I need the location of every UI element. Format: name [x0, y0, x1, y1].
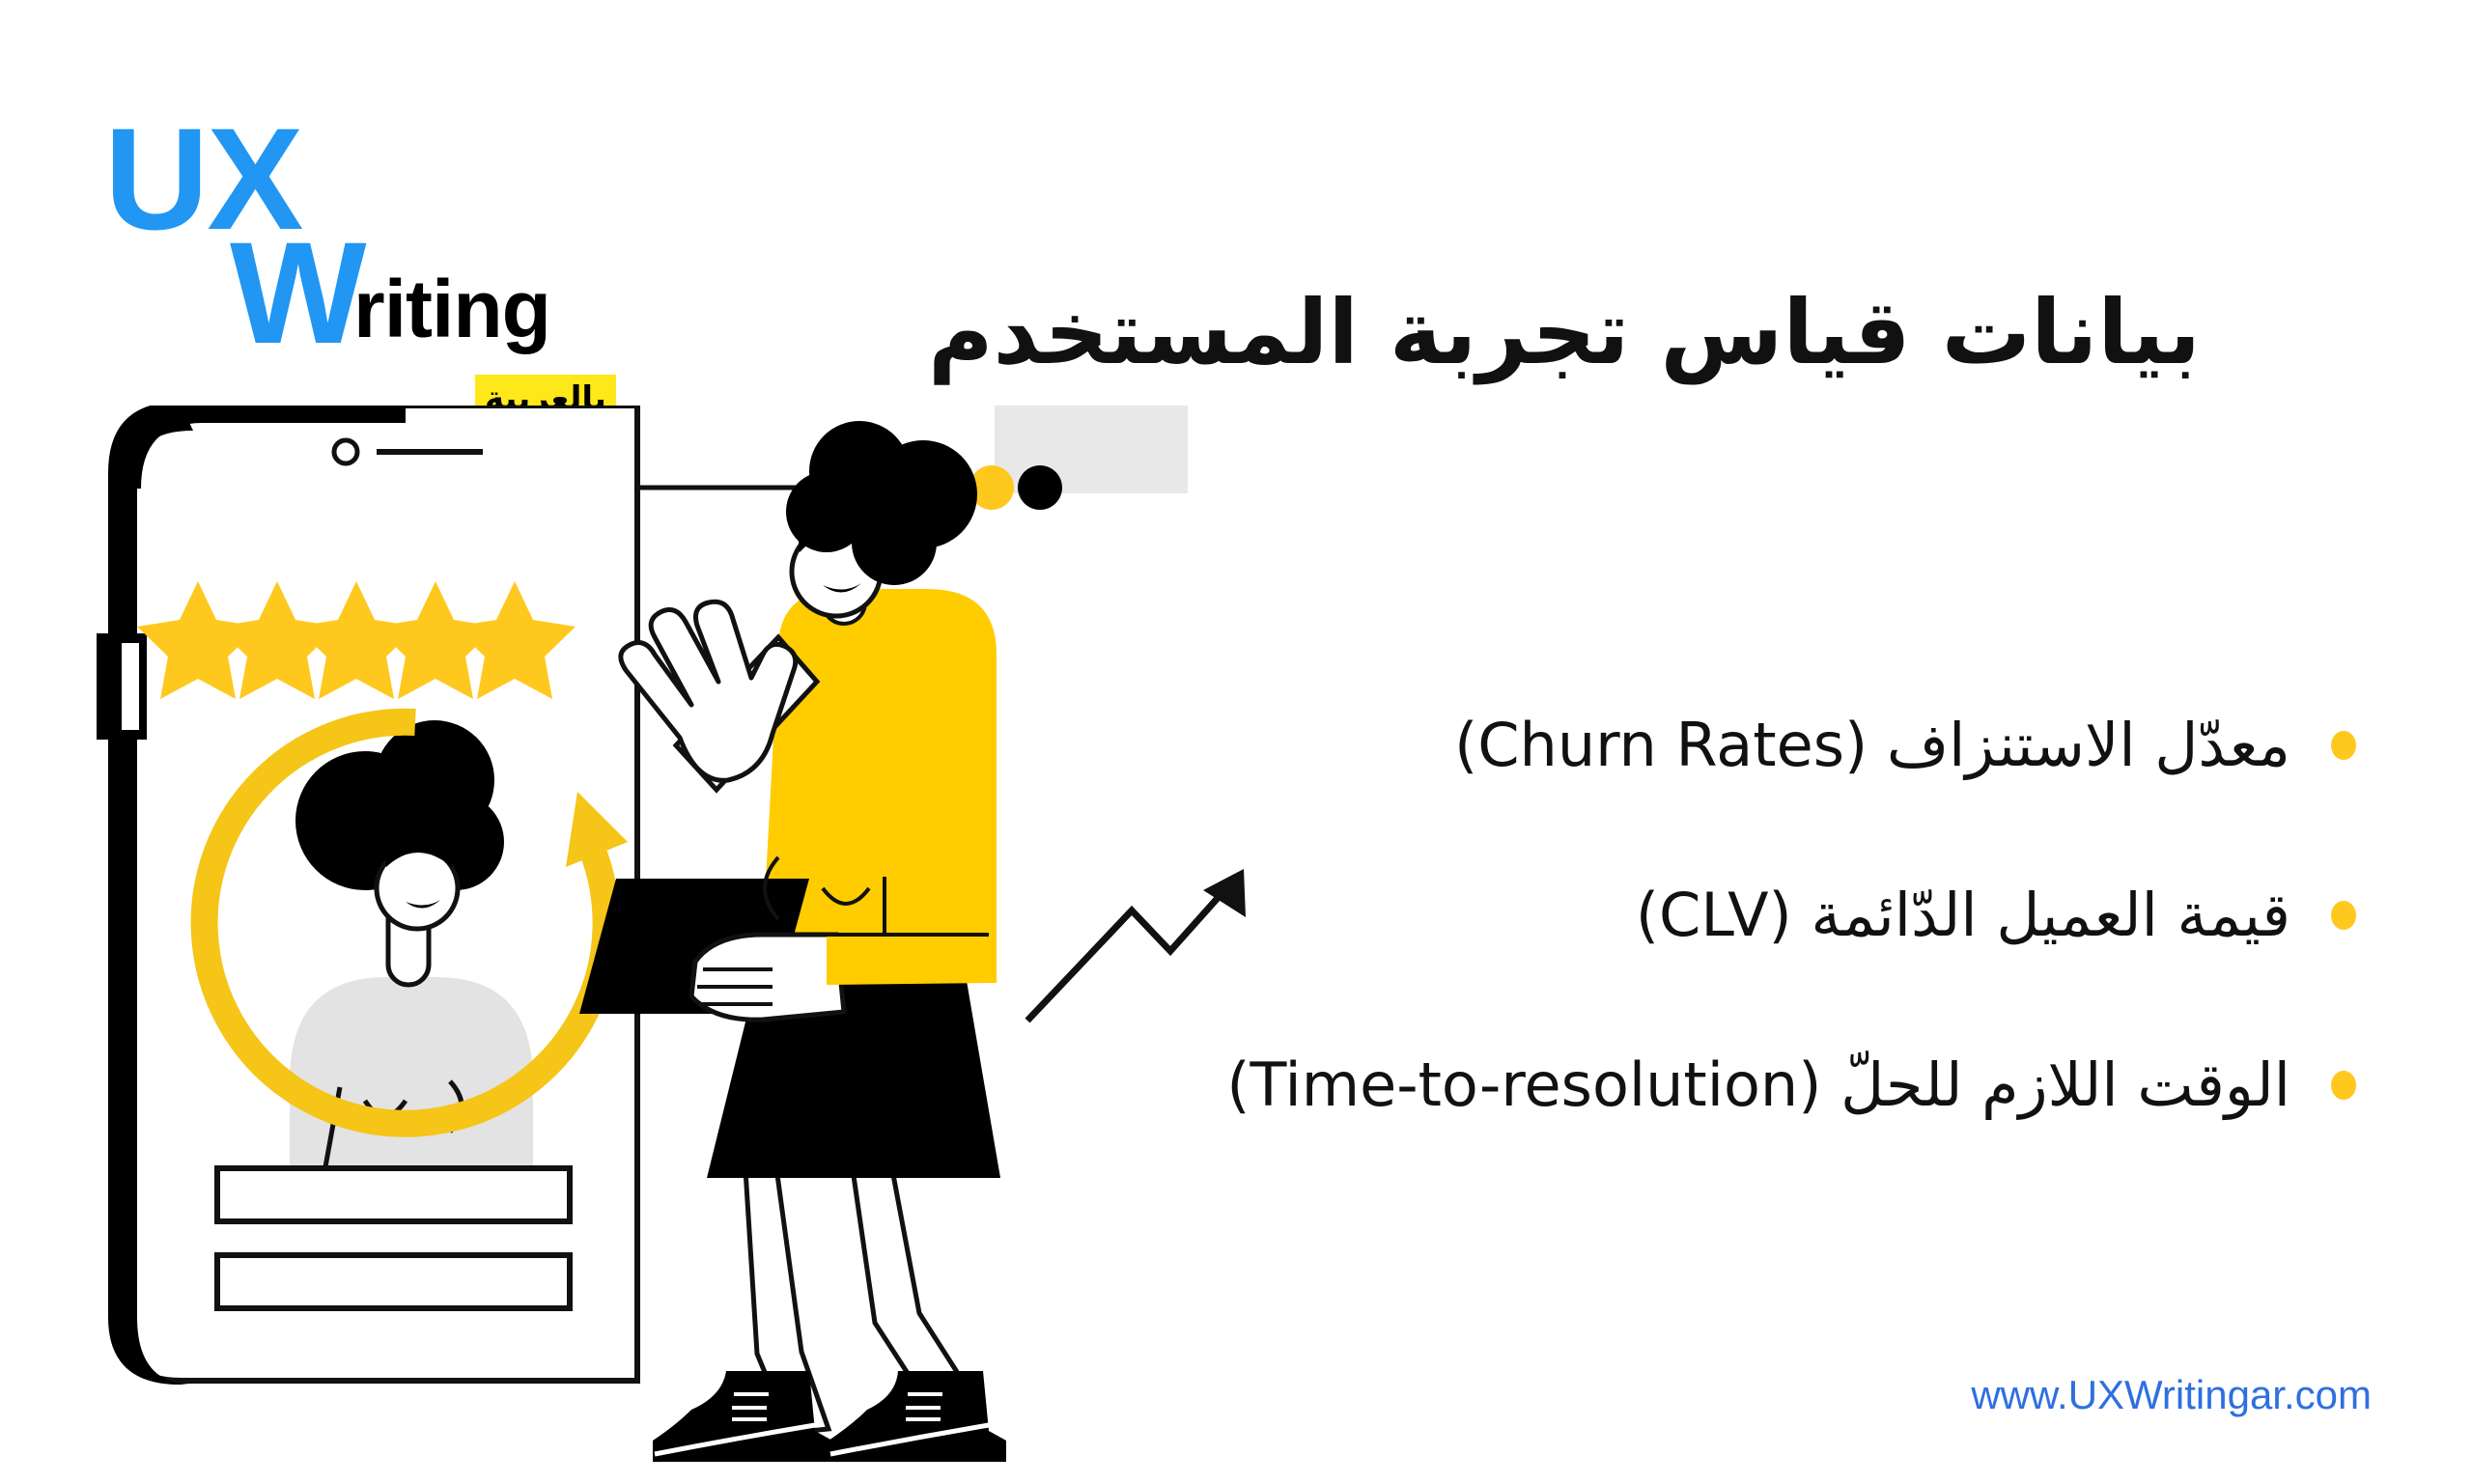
input-row	[217, 1255, 570, 1308]
list-item[interactable]: معدّل الاستنزاف (Churn Rates)	[888, 705, 2356, 786]
list-item-label: قيمة العميل الدّائمة (CLV)	[888, 875, 2290, 956]
brand-logo[interactable]: UX W riting بالعربية	[104, 106, 606, 338]
website-url-link[interactable]: www.UXWritingar.com	[1971, 1372, 2372, 1418]
phone-camera-icon	[334, 440, 357, 463]
logo-w-text: W	[230, 220, 367, 365]
person-back-shoe	[653, 1371, 832, 1462]
list-item[interactable]: قيمة العميل الدّائمة (CLV)	[888, 875, 2356, 956]
phone-device	[97, 406, 637, 1385]
person-front-shoe	[829, 1371, 1006, 1462]
poster-canvas: UX W riting بالعربية بيانات قياس تجربة ا…	[0, 0, 2472, 1484]
person-hair	[786, 471, 867, 552]
person-raised-hand	[621, 602, 796, 780]
logo-riting-text: riting	[353, 268, 550, 350]
person-forearm	[691, 935, 844, 1020]
page-title: بيانات قياس تجربة المستخدم	[744, 270, 2385, 396]
list-item-label: معدّل الاستنزاف (Churn Rates)	[888, 705, 2290, 786]
dot-black	[1018, 465, 1062, 510]
bullet-dot-icon	[2331, 1071, 2356, 1100]
phone-side-button-inner	[122, 643, 139, 730]
list-item[interactable]: الوقت اللازم للحلّ (Time-to-resolution)	[888, 1045, 2356, 1126]
bullet-dot-icon	[2331, 731, 2356, 760]
metrics-list: معدّل الاستنزاف (Churn Rates) قيمة العمي…	[888, 705, 2356, 1215]
bullet-dot-icon	[2331, 901, 2356, 930]
list-item-label: الوقت اللازم للحلّ (Time-to-resolution)	[888, 1045, 2290, 1126]
input-row	[217, 1168, 570, 1221]
